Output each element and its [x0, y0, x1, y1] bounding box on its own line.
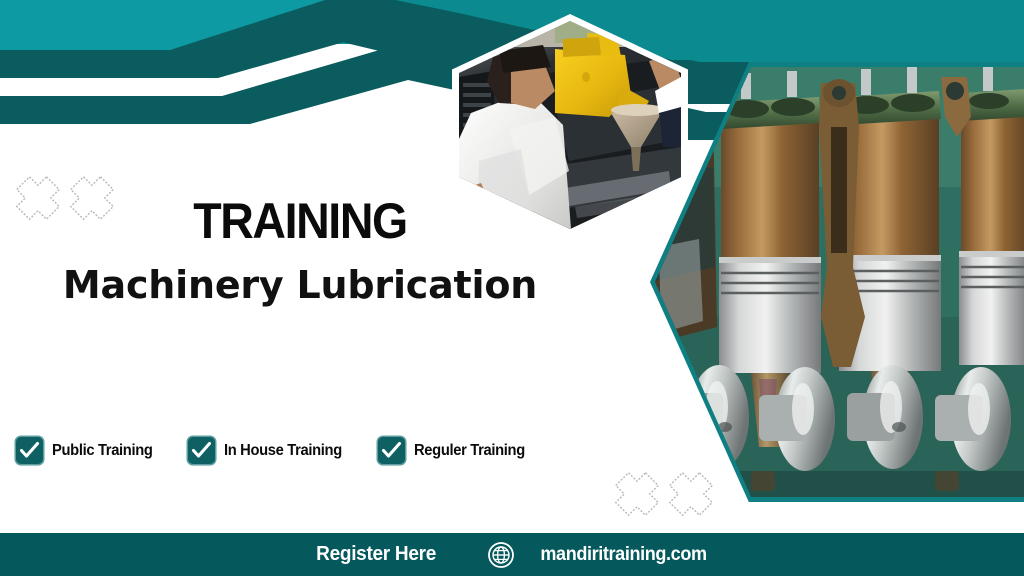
checkbox-checked-icon[interactable] — [378, 437, 405, 464]
option-public-training[interactable]: Public Training — [16, 437, 158, 464]
website-url-label[interactable]: mandiritraining.com — [540, 544, 706, 566]
page-subtitle: Machinery Lubrication — [0, 265, 600, 307]
option-label: Reguler Training — [414, 442, 525, 460]
poster-root: TRAINING Machinery Lubrication Public Tr… — [0, 0, 1024, 576]
cross-outline-icon — [613, 470, 661, 518]
checkbox-checked-icon[interactable] — [188, 437, 215, 464]
globe-icon — [488, 542, 514, 568]
headline-block: TRAINING Machinery Lubrication — [0, 196, 600, 307]
cross-outline-icon — [667, 470, 715, 518]
option-label: Public Training — [52, 442, 153, 460]
page-title: TRAINING — [21, 196, 579, 247]
training-options-row: Public Training In House Training Regule… — [16, 437, 531, 464]
option-reguler-training[interactable]: Reguler Training — [378, 437, 531, 464]
option-in-house-training[interactable]: In House Training — [188, 437, 348, 464]
cross-decoration-mid — [613, 470, 715, 518]
register-here-label[interactable]: Register Here — [317, 543, 437, 566]
footer-bar: Register Here mandiritraining.com — [0, 533, 1024, 576]
option-label: In House Training — [224, 442, 342, 460]
checkbox-checked-icon[interactable] — [16, 437, 43, 464]
